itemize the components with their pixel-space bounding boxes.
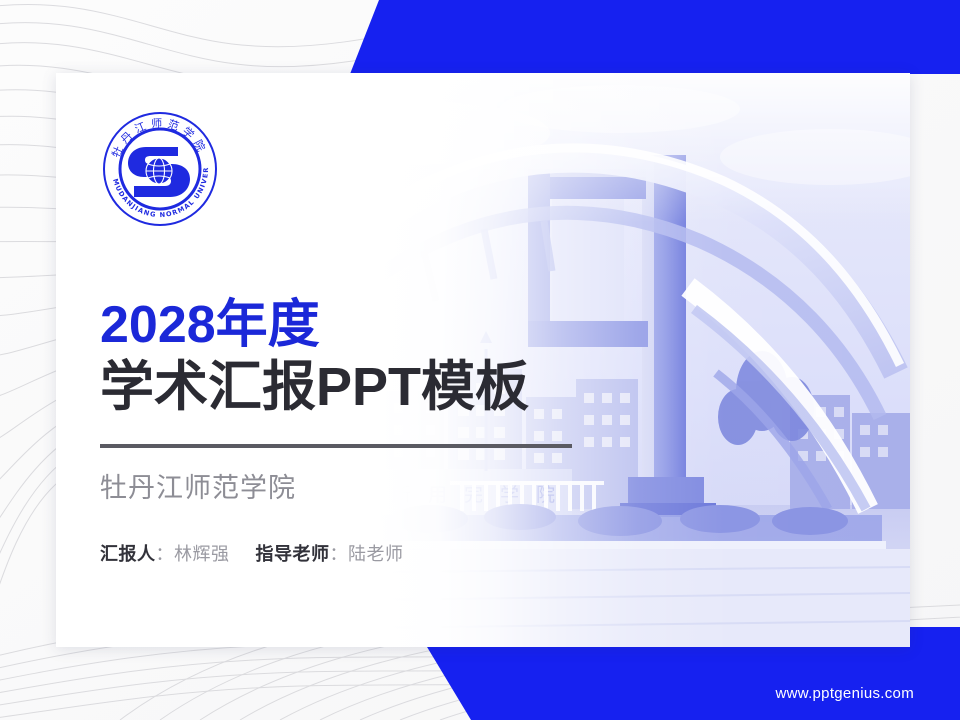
title-year: 2028年度 xyxy=(100,298,660,353)
reporter-label: 汇报人 xyxy=(100,544,156,564)
reporter-name: 林辉强 xyxy=(174,544,230,564)
title-text-block: 2028年度 学术汇报PPT模板 牡丹江师范学院 汇报人：林辉强指导老师：陆老师 xyxy=(100,298,660,566)
title-main: 学术汇报PPT模板 xyxy=(100,357,660,417)
title-divider xyxy=(100,444,572,448)
advisor-label: 指导老师 xyxy=(256,544,330,564)
presenter-line: 汇报人：林辉强指导老师：陆老师 xyxy=(100,540,660,566)
presentation-title-slide: 学 其 所 用 完 学 院 xyxy=(0,0,960,720)
reporter-separator: ： xyxy=(156,544,175,564)
advisor-name: 陆老师 xyxy=(348,544,404,564)
advisor-separator: ： xyxy=(330,544,349,564)
school-name: 牡丹江师范学院 xyxy=(100,472,660,504)
footer-website-url[interactable]: www.pptgenius.com xyxy=(776,685,915,702)
content-card: 学 其 所 用 完 学 院 xyxy=(56,73,910,647)
university-logo: 牡丹江师范学院 MUDANJIANG NORMAL UNIVERSITY xyxy=(100,109,220,229)
